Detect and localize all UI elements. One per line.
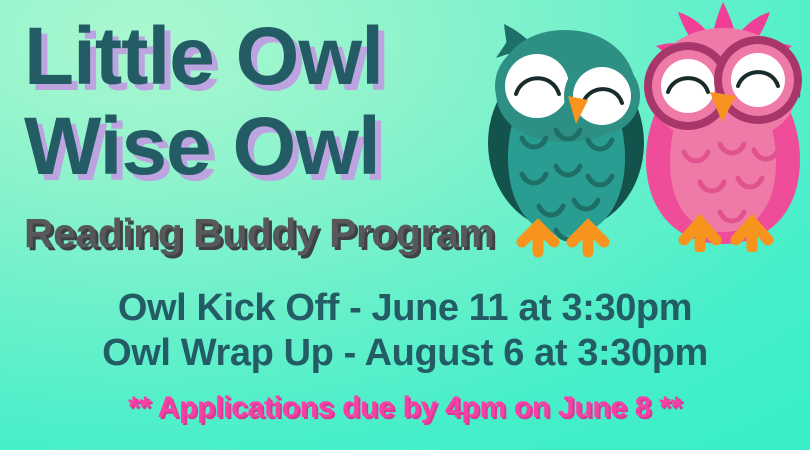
event-line-kickoff: Owl Kick Off - June 11 at 3:30pm	[0, 289, 810, 327]
poster-title-line-2: Wise Owl	[24, 106, 380, 188]
poster-subtitle: Reading Buddy Program	[24, 213, 494, 254]
poster-canvas: Little Owl Wise Owl Reading Buddy Progra…	[0, 0, 810, 450]
pink-owl-icon	[628, 0, 810, 252]
event-line-wrapup: Owl Wrap Up - August 6 at 3:30pm	[0, 334, 810, 372]
poster-title-line-1: Little Owl	[24, 16, 383, 98]
application-deadline-text: ** Applications due by 4pm on June 8 **	[0, 393, 810, 423]
